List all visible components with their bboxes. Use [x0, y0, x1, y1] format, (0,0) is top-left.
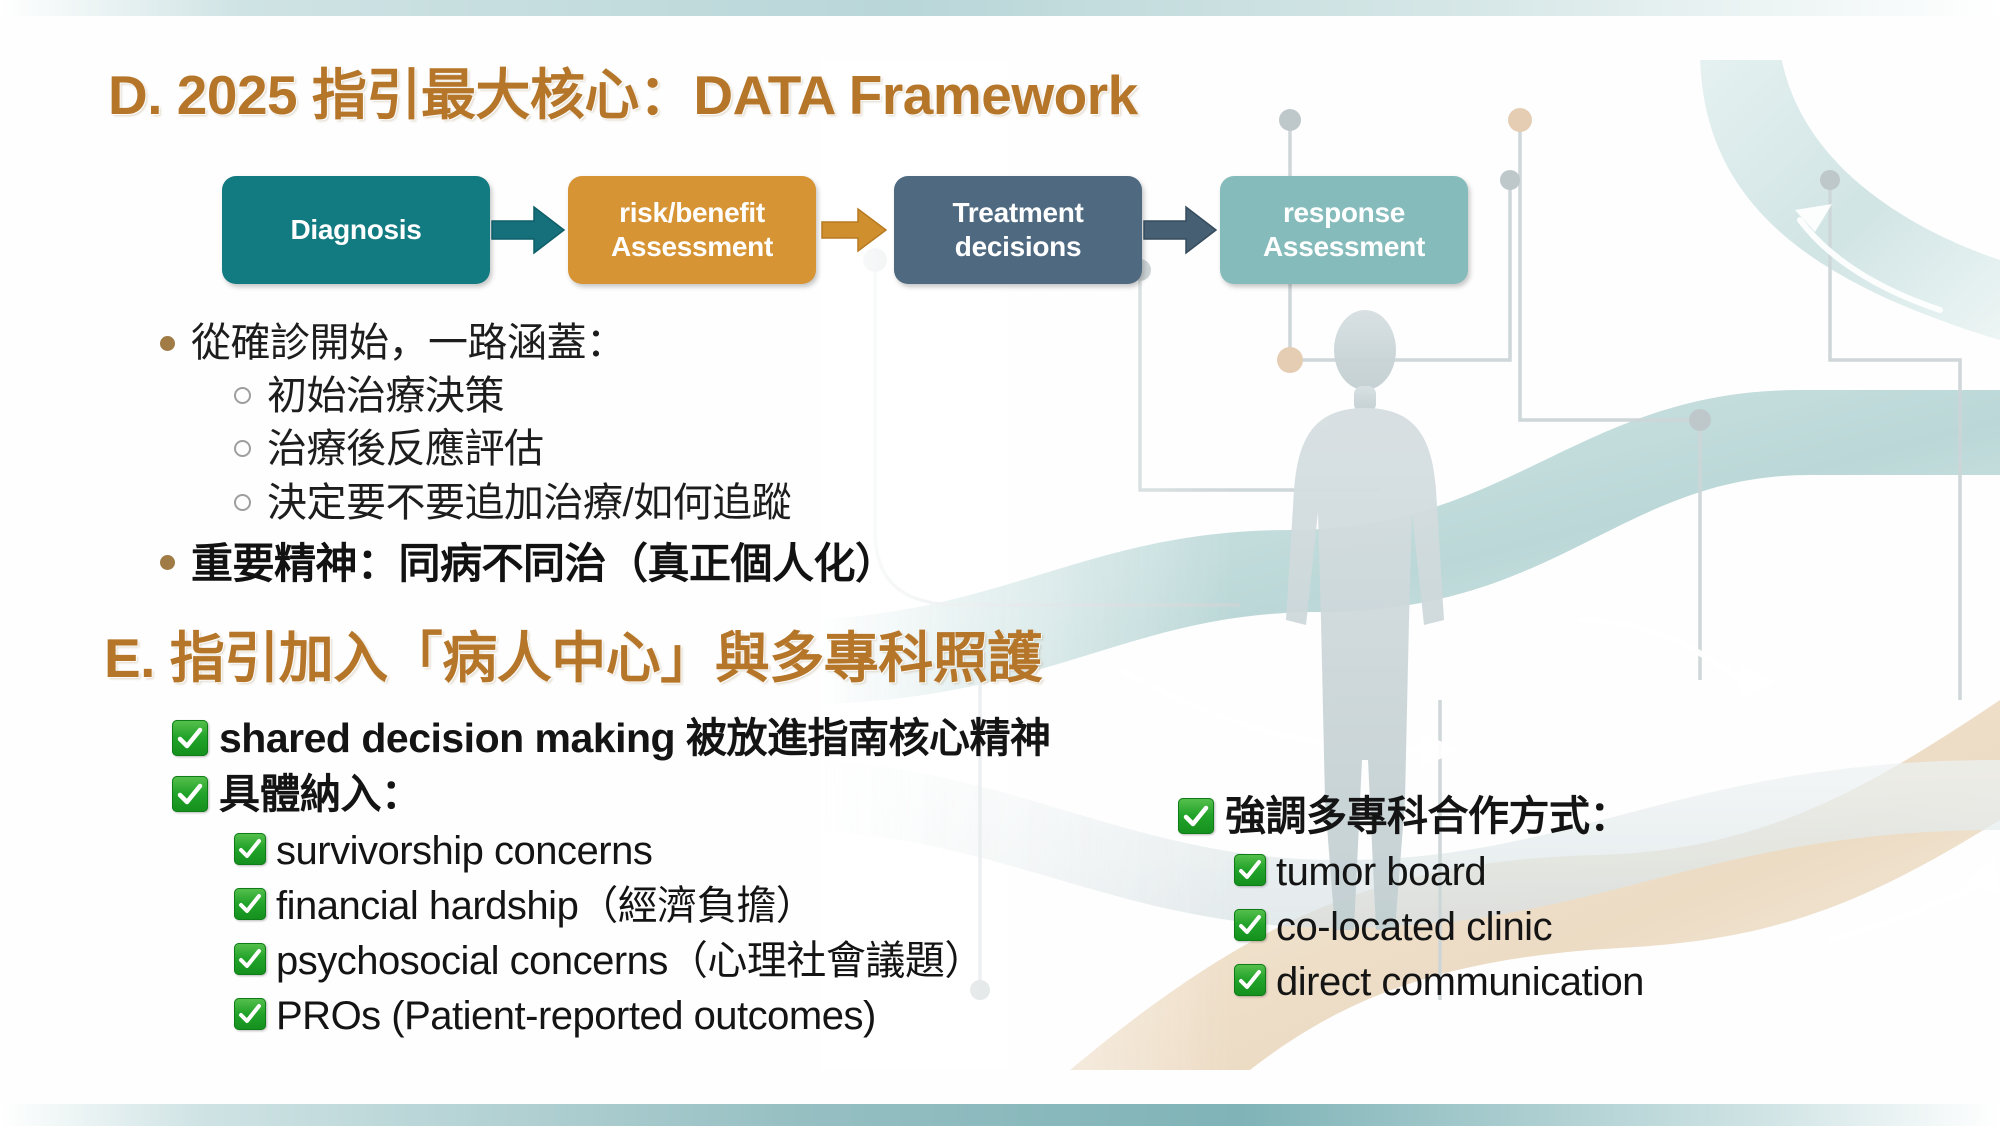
flow-box-risk-benefit-assessment[interactable]: risk/benefit Assessment — [568, 176, 816, 284]
checklist-sublabel: survivorship concerns — [276, 825, 652, 877]
hollow-dot-icon — [234, 387, 251, 404]
right-arrow-icon-2 — [816, 199, 894, 261]
hollow-dot-icon — [234, 440, 251, 457]
bullet-text: 治療後反應評估 — [267, 424, 544, 475]
bullet-item: 決定要不要追加治療/如何追蹤 — [160, 478, 1020, 529]
bullet-item: 初始治療決策 — [160, 371, 1020, 422]
checkbox-checked-icon[interactable] — [172, 776, 208, 812]
bullet-item: 治療後反應評估 — [160, 424, 1020, 475]
checklist-subitem[interactable]: PROs (Patient-reported outcomes) — [234, 990, 1172, 1042]
checklist-sublabel: PROs (Patient-reported outcomes) — [276, 990, 876, 1042]
right-arrow-icon-3 — [1142, 199, 1220, 261]
checklist-label: 具體納入： — [219, 768, 422, 821]
checkbox-checked-icon[interactable] — [1234, 854, 1266, 886]
flow-box-label-line2: Assessment — [1263, 230, 1425, 264]
top-accent-band — [0, 0, 2000, 16]
filled-dot-icon — [160, 555, 175, 570]
checklist-item[interactable]: 強調多專科合作方式： — [1178, 790, 1958, 843]
flow-box-treatment-decisions[interactable]: Treatment decisions — [894, 176, 1142, 284]
bullet-text: 決定要不要追加治療/如何追蹤 — [267, 478, 791, 529]
section-e-heading: E. 指引加入「病人中心」與多專科照護 — [104, 613, 1042, 693]
checkbox-checked-icon[interactable] — [1178, 798, 1214, 834]
checklist-subitem[interactable]: tumor board — [1234, 846, 1958, 898]
checkbox-checked-icon[interactable] — [234, 888, 266, 920]
flow-box-label-line2: decisions — [952, 230, 1083, 264]
bullet-item: 從確診開始，一路涵蓋： — [160, 318, 1020, 369]
checkbox-checked-icon[interactable] — [172, 720, 208, 756]
right-arrow-icon-1 — [490, 199, 568, 261]
checklist-subitem[interactable]: survivorship concerns — [234, 825, 1172, 877]
section-d-heading: D. 2025 指引最大核心：DATA Framework — [108, 50, 1138, 130]
flow-box-label: Diagnosis — [290, 213, 421, 247]
filled-dot-icon — [160, 336, 175, 351]
flow-box-label-line1: risk/benefit — [611, 196, 773, 230]
checkbox-checked-icon[interactable] — [234, 998, 266, 1030]
bullet-text: 從確診開始，一路涵蓋： — [191, 318, 626, 369]
checklist-item[interactable]: shared decision making 被放進指南核心精神 — [172, 712, 1172, 765]
bottom-accent-band — [0, 1104, 2000, 1126]
checkbox-checked-icon[interactable] — [1234, 909, 1266, 941]
flow-box-response-assessment[interactable]: response Assessment — [1220, 176, 1468, 284]
section-d-bullet-list: 從確診開始，一路涵蓋： 初始治療決策 治療後反應評估 決定要不要追加治療/如何追… — [160, 318, 1020, 593]
checklist-item[interactable]: 具體納入： — [172, 768, 1172, 821]
checklist-subitem[interactable]: psychosocial concerns（心理社會議題） — [234, 935, 1172, 987]
section-e-left-sublist: survivorship concerns financial hardship… — [172, 825, 1172, 1042]
flow-box-diagnosis[interactable]: Diagnosis — [222, 176, 490, 284]
checklist-sublabel: psychosocial concerns（心理社會議題） — [276, 935, 984, 987]
data-framework-flow: Diagnosis risk/benefit Assessment Treatm… — [222, 176, 1468, 284]
checklist-subitem[interactable]: financial hardship（經濟負擔） — [234, 880, 1172, 932]
checkbox-checked-icon[interactable] — [234, 943, 266, 975]
checkbox-checked-icon[interactable] — [234, 833, 266, 865]
bullet-text: 初始治療決策 — [267, 371, 504, 422]
flow-box-label-line1: Treatment — [952, 196, 1083, 230]
checklist-subitem[interactable]: co-located clinic — [1234, 901, 1958, 953]
checklist-label: 強調多專科合作方式： — [1225, 790, 1630, 843]
flow-box-label-line2: Assessment — [611, 230, 773, 264]
checklist-subitem[interactable]: direct communication — [1234, 956, 1958, 1008]
flow-box-label-line1: response — [1263, 196, 1425, 230]
bullet-text: 重要精神：同病不同治（真正個人化） — [191, 537, 897, 591]
hollow-dot-icon — [234, 494, 251, 511]
checklist-sublabel: financial hardship（經濟負擔） — [276, 880, 815, 932]
section-e-left-column: shared decision making 被放進指南核心精神 具體納入： s… — [172, 712, 1172, 1045]
slide-canvas: D. 2025 指引最大核心：DATA Framework Diagnosis … — [0, 0, 2000, 1126]
checklist-sublabel: co-located clinic — [1276, 901, 1552, 953]
checkbox-checked-icon[interactable] — [1234, 964, 1266, 996]
section-e-right-column: 強調多專科合作方式： tumor board co-located clinic… — [1178, 790, 1958, 1011]
section-e-right-sublist: tumor board co-located clinic direct com… — [1178, 846, 1958, 1008]
checklist-label: shared decision making 被放進指南核心精神 — [219, 712, 1051, 765]
checklist-sublabel: tumor board — [1276, 846, 1486, 898]
checklist-sublabel: direct communication — [1276, 956, 1644, 1008]
bullet-item: 重要精神：同病不同治（真正個人化） — [160, 537, 1020, 591]
